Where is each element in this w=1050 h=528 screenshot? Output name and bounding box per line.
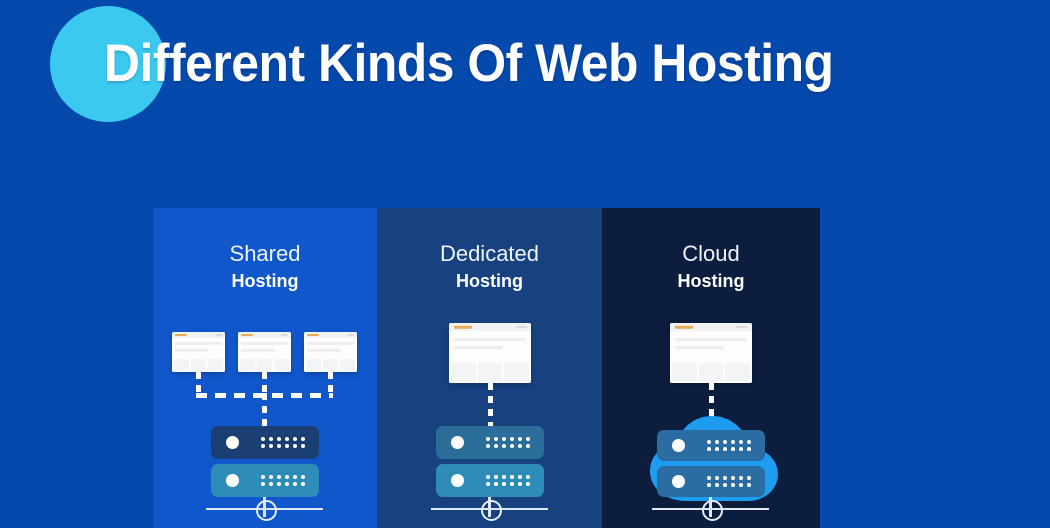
server-indicator-dots	[261, 475, 305, 486]
server-stack	[211, 426, 319, 497]
server-stack	[436, 426, 544, 497]
window-content	[449, 331, 531, 383]
panel-shared-hosting[interactable]: Shared Hosting	[153, 208, 377, 528]
server-indicator-dots	[261, 437, 305, 448]
infographic-canvas: Different Kinds Of Web Hosting Shared Ho…	[0, 0, 1050, 528]
server-led-icon	[226, 474, 239, 487]
panel-cloud-hosting[interactable]: Cloud Hosting	[602, 208, 820, 528]
client-window	[449, 323, 531, 383]
server-stack	[657, 430, 765, 497]
content-line	[175, 342, 222, 345]
window-tab-icon	[454, 326, 472, 329]
server-indicator-dots	[707, 476, 751, 487]
panel-dedicated-name: Dedicated	[377, 241, 602, 267]
content-columns	[174, 359, 224, 371]
server-indicator-dots	[486, 437, 530, 448]
client-window	[238, 332, 291, 372]
content-columns	[306, 359, 356, 371]
connector-dashed	[262, 393, 267, 428]
hosting-comparison-panels: Shared Hosting	[153, 208, 820, 528]
server-unit	[211, 464, 319, 497]
panel-shared-subtitle: Hosting	[153, 269, 377, 293]
content-columns	[240, 359, 290, 371]
network-node-icon	[256, 500, 277, 521]
window-content	[238, 338, 291, 372]
window-tab-icon	[175, 334, 187, 336]
content-line	[454, 338, 526, 341]
server-led-icon	[672, 475, 685, 488]
panel-shared-name: Shared	[153, 241, 377, 267]
content-line	[175, 349, 209, 352]
panel-dedicated-title: Dedicated Hosting	[377, 241, 602, 293]
panel-cloud-subtitle: Hosting	[602, 269, 820, 293]
panel-dedicated-hosting[interactable]: Dedicated Hosting	[377, 208, 602, 528]
panel-dedicated-subtitle: Hosting	[377, 269, 602, 293]
client-window	[172, 332, 225, 372]
window-controls-icon	[215, 334, 222, 336]
content-line	[675, 338, 747, 341]
window-content	[304, 338, 357, 372]
content-line	[307, 349, 341, 352]
client-window	[670, 323, 752, 383]
content-line	[454, 346, 503, 349]
window-tab-icon	[241, 334, 253, 336]
server-indicator-dots	[707, 440, 751, 451]
connector-dashed	[488, 383, 493, 428]
server-unit	[436, 426, 544, 459]
server-led-icon	[226, 436, 239, 449]
window-content	[670, 331, 752, 383]
client-window	[304, 332, 357, 372]
server-unit	[657, 430, 765, 461]
connector-dashed	[709, 383, 714, 428]
window-controls-icon	[281, 334, 288, 336]
server-unit	[657, 466, 765, 497]
content-line	[241, 349, 275, 352]
server-led-icon	[672, 439, 685, 452]
window-controls-icon	[736, 326, 747, 328]
server-led-icon	[451, 474, 464, 487]
window-controls-icon	[347, 334, 354, 336]
window-tab-icon	[307, 334, 319, 336]
page-title: Different Kinds Of Web Hosting	[104, 34, 834, 94]
server-led-icon	[451, 436, 464, 449]
panel-cloud-name: Cloud	[602, 241, 820, 267]
content-columns	[672, 363, 749, 381]
content-line	[307, 342, 354, 345]
window-controls-icon	[515, 326, 526, 328]
network-node-icon	[702, 500, 723, 521]
content-line	[241, 342, 288, 345]
server-unit	[436, 464, 544, 497]
window-content	[172, 338, 225, 372]
server-indicator-dots	[486, 475, 530, 486]
window-tab-icon	[675, 326, 693, 329]
panel-cloud-title: Cloud Hosting	[602, 241, 820, 293]
network-node-icon	[481, 500, 502, 521]
content-line	[675, 346, 724, 349]
content-columns	[451, 363, 528, 381]
server-unit	[211, 426, 319, 459]
panel-shared-title: Shared Hosting	[153, 241, 377, 293]
